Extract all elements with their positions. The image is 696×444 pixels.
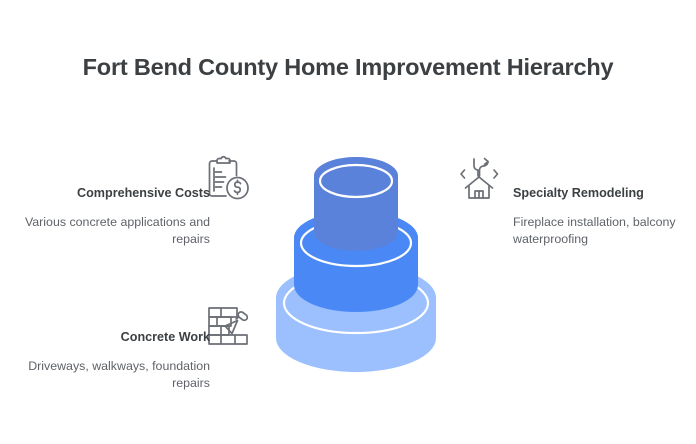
hierarchy-pyramid-graphic xyxy=(266,140,446,385)
house-smoke-icon xyxy=(450,150,508,208)
hierarchy-item-comprehensive-costs: Comprehensive Costs Various concrete app… xyxy=(10,185,210,248)
item-heading: Comprehensive Costs xyxy=(10,185,210,201)
hierarchy-item-specialty-remodeling: Specialty Remodeling Fireplace installat… xyxy=(513,185,696,248)
item-heading: Specialty Remodeling xyxy=(513,185,696,201)
item-heading: Concrete Work xyxy=(10,329,210,345)
pyramid-tier-top xyxy=(314,157,398,251)
item-description: Fireplace installation, balcony waterpro… xyxy=(513,214,696,248)
infographic-canvas: Fort Bend County Home Improvement Hierar… xyxy=(0,0,696,444)
hierarchy-item-concrete-work: Concrete Work Driveways, walkways, found… xyxy=(10,329,210,392)
page-title: Fort Bend County Home Improvement Hierar… xyxy=(0,52,696,82)
item-description: Various concrete applications and repair… xyxy=(10,214,210,248)
item-description: Driveways, walkways, foundation repairs xyxy=(10,358,210,392)
